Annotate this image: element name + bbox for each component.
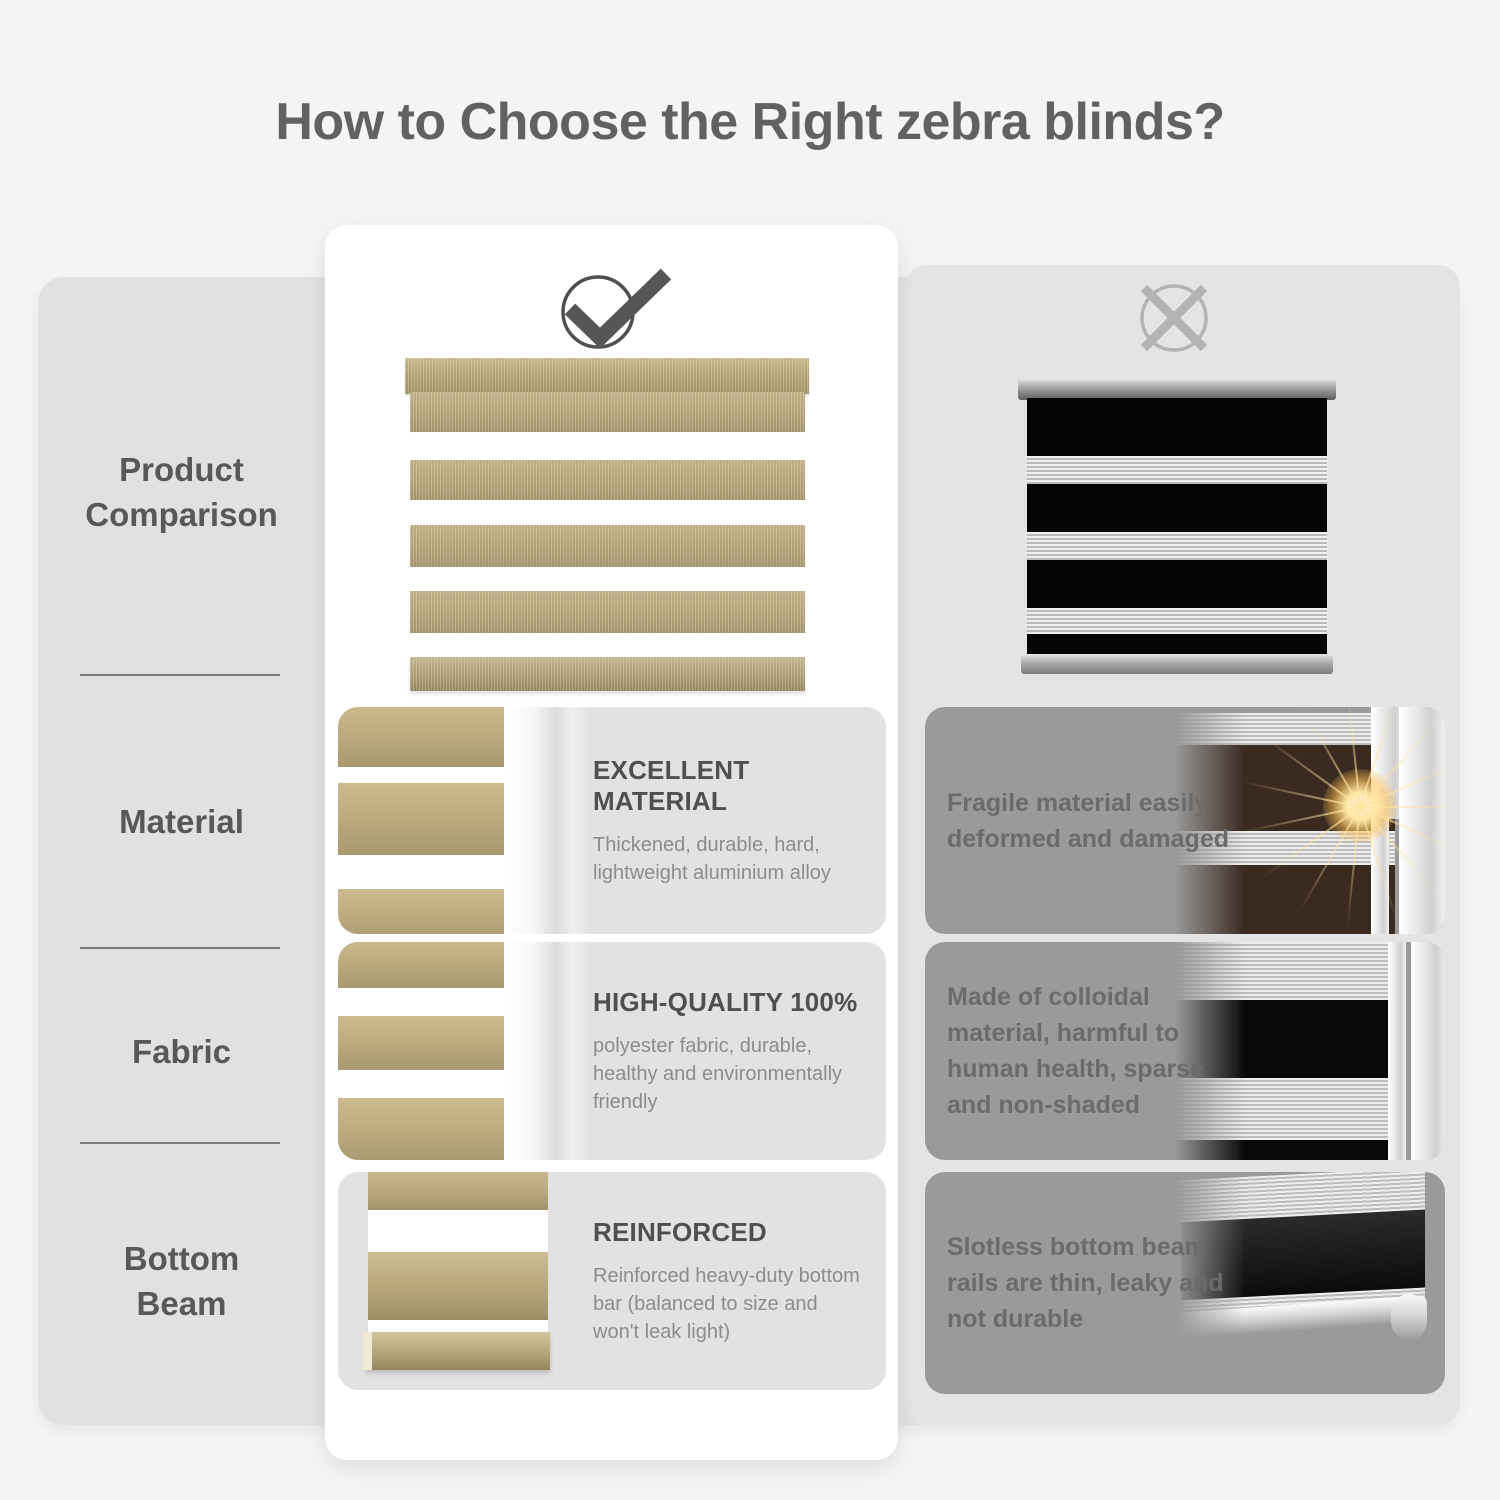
feature-title: REINFORCED	[593, 1217, 868, 1248]
circle-cross-icon	[1118, 278, 1230, 358]
row-label-fabric: Fabric	[38, 1029, 325, 1074]
row-label-line2: Beam	[137, 1285, 227, 1322]
feature-title: HIGH-QUALITY 100%	[593, 987, 868, 1018]
good-bottom-beam-photo	[338, 1172, 590, 1390]
bad-bottom-beam-text: Slotless bottom beam rails are thin, lea…	[947, 1172, 1237, 1394]
row-label-bottom-beam: Bottom Beam	[38, 1236, 325, 1326]
bad-material-text: Fragile material easily deformed and dam…	[947, 707, 1237, 934]
good-feature-card-fabric: HIGH-QUALITY 100% polyester fabric, dura…	[338, 942, 886, 1160]
good-fabric-text: HIGH-QUALITY 100% polyester fabric, dura…	[593, 942, 868, 1160]
good-material-text: EXCELLENT MATERIAL Thickened, durable, h…	[593, 707, 868, 934]
feature-title: EXCELLENT MATERIAL	[593, 755, 868, 817]
row-label-column: Product Comparison Material Fabric Botto…	[38, 277, 325, 1425]
row-label-line1: Product	[119, 451, 244, 488]
row-label-material: Material	[38, 799, 325, 844]
feature-body: Reinforced heavy-duty bottom bar (balanc…	[593, 1262, 868, 1346]
feature-body: polyester fabric, durable, healthy and e…	[593, 1032, 868, 1116]
row-label-line1: Bottom	[124, 1240, 239, 1277]
bad-feature-card-bottom-beam: Slotless bottom beam rails are thin, lea…	[925, 1172, 1445, 1394]
bad-feature-card-material: Fragile material easily deformed and dam…	[925, 707, 1445, 934]
row-label-line1: Material	[119, 803, 244, 840]
row-divider-1	[80, 674, 280, 676]
row-label-product-comparison: Product Comparison	[38, 447, 325, 537]
good-feature-card-bottom-beam: REINFORCED Reinforced heavy-duty bottom …	[338, 1172, 886, 1390]
good-bottom-beam-text: REINFORCED Reinforced heavy-duty bottom …	[593, 1172, 868, 1390]
infographic-root: How to Choose the Right zebra blinds? Pr…	[0, 0, 1500, 1500]
row-label-line2: Comparison	[85, 496, 278, 533]
feature-body: Thickened, durable, hard, lightweight al…	[593, 831, 868, 887]
page-title: How to Choose the Right zebra blinds?	[0, 92, 1500, 152]
good-material-photo	[338, 707, 590, 934]
good-hero-product-image	[405, 358, 809, 698]
good-feature-card-material: EXCELLENT MATERIAL Thickened, durable, h…	[338, 707, 886, 934]
row-label-line1: Fabric	[132, 1033, 231, 1070]
bad-feature-card-fabric: Made of colloidal material, harmful to h…	[925, 942, 1445, 1160]
good-fabric-photo	[338, 942, 590, 1160]
row-divider-2	[80, 947, 280, 949]
bad-hero-product-image	[1018, 378, 1336, 674]
circle-check-icon	[548, 262, 678, 354]
bad-fabric-text: Made of colloidal material, harmful to h…	[947, 942, 1237, 1160]
row-divider-3	[80, 1142, 280, 1144]
